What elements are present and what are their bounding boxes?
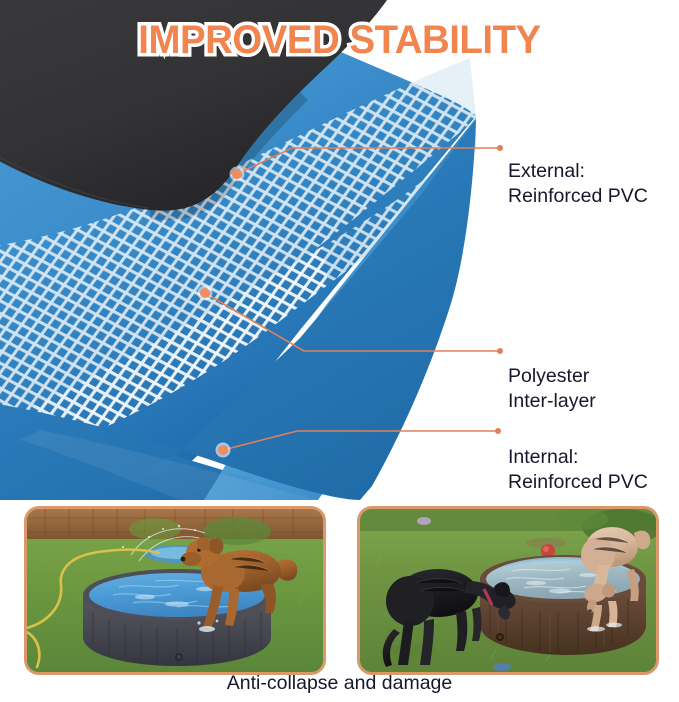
page-title: IMPROVED STABILITY: [14, 19, 666, 61]
anchor-dot-external: [232, 169, 242, 179]
photo-row-caption: Anti-collapse and damage: [0, 672, 679, 695]
infographic-page: IMPROVED STABILITY External: Reinforced …: [0, 0, 679, 702]
anchor-dot-polyester: [200, 288, 210, 298]
photo-right-scene: [360, 509, 656, 672]
callout-external-line1: External:: [508, 160, 585, 182]
photo-dog-jumping-into-pool: [24, 506, 326, 675]
callout-internal-line2: Reinforced PVC: [508, 470, 648, 495]
callout-internal-line1: Internal:: [508, 446, 578, 468]
end-dot-polyester: [497, 348, 503, 354]
end-dot-external: [497, 145, 503, 151]
callout-external-line2: Reinforced PVC: [508, 184, 648, 209]
photo-two-dogs-at-pool: [357, 506, 659, 675]
callout-label-internal: Internal: Reinforced PVC: [508, 420, 648, 520]
anchor-dot-internal: [218, 445, 228, 455]
callout-label-external: External: Reinforced PVC: [508, 134, 648, 234]
photo-left-scene: [27, 509, 323, 672]
callout-polyester-line1: Polyester: [508, 365, 589, 387]
end-dot-internal: [495, 428, 501, 434]
callout-polyester-line2: Inter-layer: [508, 389, 596, 414]
